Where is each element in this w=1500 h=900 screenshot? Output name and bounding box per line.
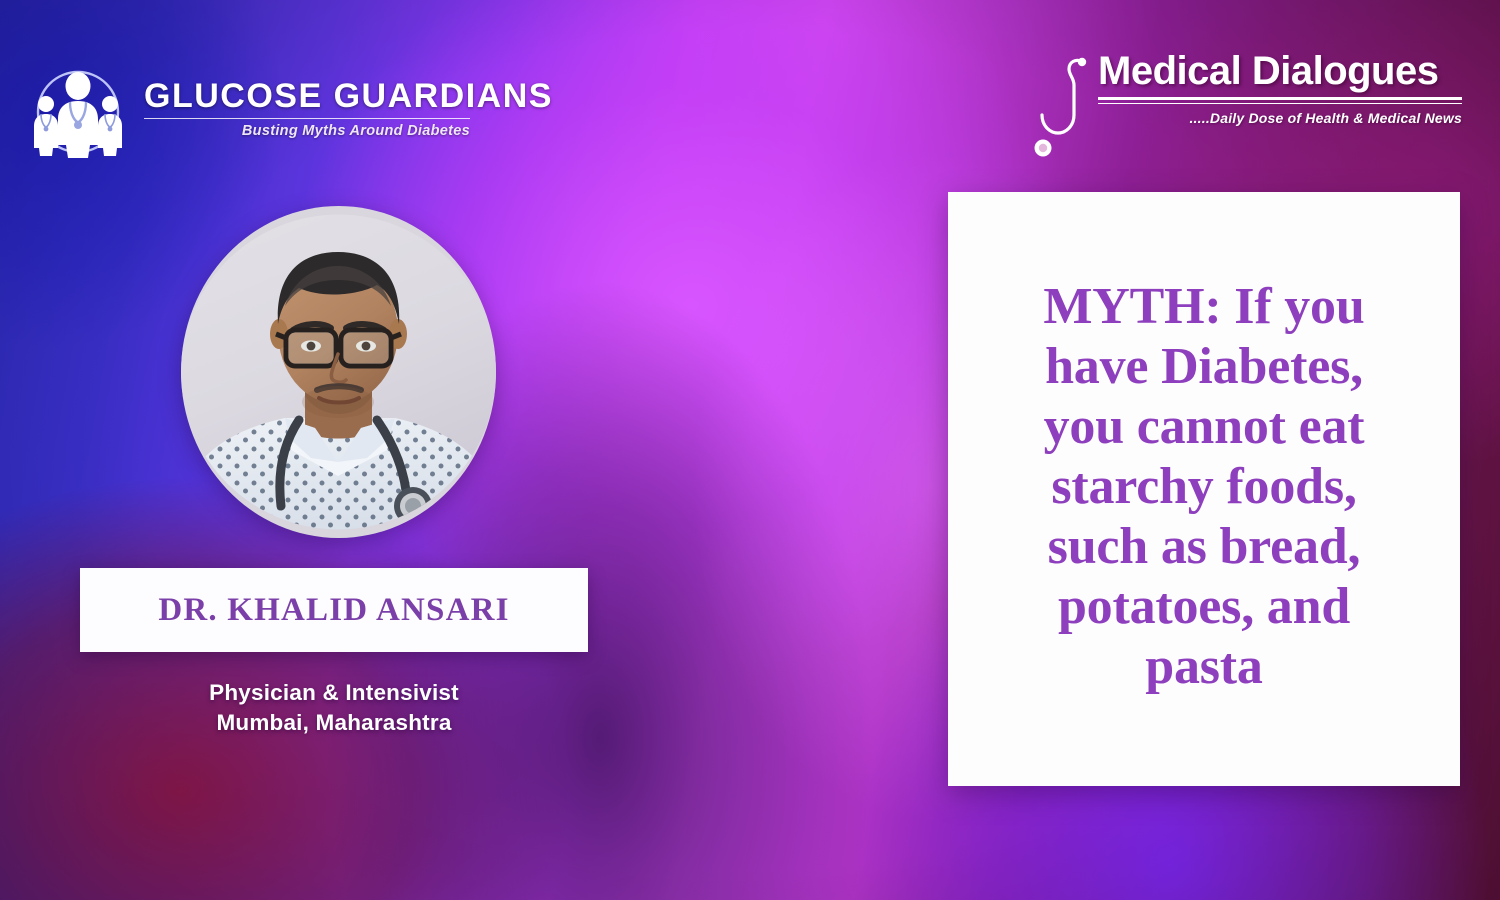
myth-line-2: have Diabetes, [982,337,1426,397]
medical-dialogues-tagline: .....Daily Dose of Health & Medical News [1098,110,1462,126]
myth-line-6: potatoes, and [982,577,1426,637]
glucose-guardians-tagline: Busting Myths Around Diabetes [144,123,470,139]
doctor-specialty: Physician & Intensivist [80,678,588,708]
doctor-photo [181,206,496,538]
glucose-guardians-logo: GLUCOSE GUARDIANS Busting Myths Around D… [26,52,476,162]
doctor-location: Mumbai, Maharashtra [80,708,588,738]
myth-line-7: pasta [982,637,1426,697]
medical-dialogues-divider-thick [1098,97,1462,100]
myth-line-1: MYTH: If you [982,277,1426,337]
doctor-name: DR. KHALID ANSARI [158,592,509,629]
medical-dialogues-logo: Medical Dialogues .....Daily Dose of Hea… [1032,50,1462,162]
myth-card: MYTH: If youhave Diabetes,you cannot eat… [948,192,1460,786]
doctor-photo-circle [181,206,496,538]
myth-line-4: starchy foods, [982,457,1426,517]
medical-dialogues-wordmark: Medical Dialogues .....Daily Dose of Hea… [1098,50,1462,126]
three-doctors-circle-icon [26,56,130,158]
doctor-credentials: Physician & Intensivist Mumbai, Maharash… [80,678,588,738]
myth-text: MYTH: If youhave Diabetes,you cannot eat… [982,277,1426,697]
stethoscope-icon [1032,52,1092,160]
doctor-name-plate: DR. KHALID ANSARI [80,568,588,652]
glucose-guardians-divider [144,118,470,120]
poster-canvas: GLUCOSE GUARDIANS Busting Myths Around D… [0,0,1500,900]
myth-line-5: such as bread, [982,517,1426,577]
myth-line-3: you cannot eat [982,397,1426,457]
glucose-guardians-wordmark: GLUCOSE GUARDIANS Busting Myths Around D… [144,75,553,140]
glucose-guardians-title: GLUCOSE GUARDIANS [144,79,553,113]
medical-dialogues-divider-thin [1098,103,1462,105]
medical-dialogues-title: Medical Dialogues [1098,50,1462,92]
